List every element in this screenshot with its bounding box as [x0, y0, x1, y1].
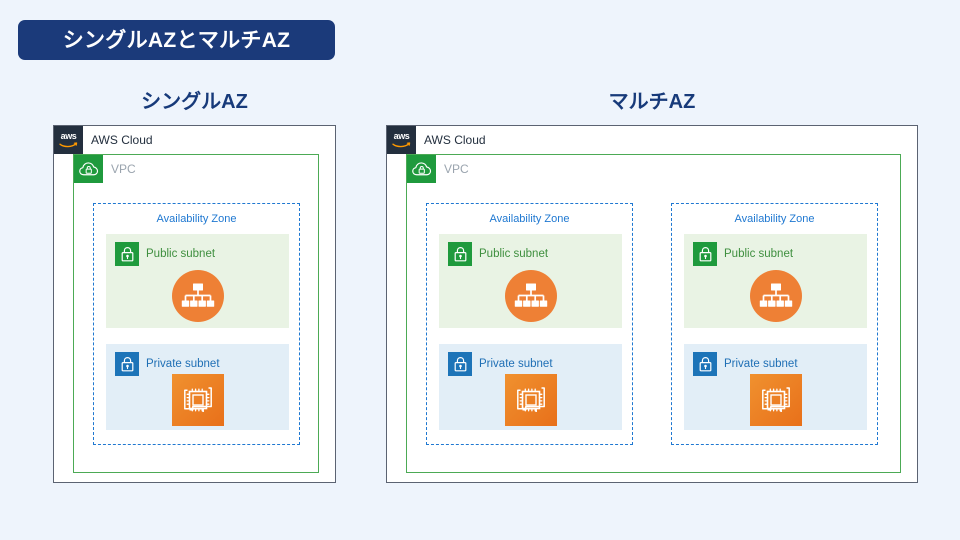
private-subnet-lock-icon [693, 352, 717, 376]
availability-zone-label: Availability Zone [427, 212, 632, 226]
ec2-instance-icon [750, 374, 802, 426]
public-subnet-block: Public subnet [106, 234, 289, 328]
aws-smile-swoosh-icon [392, 142, 411, 148]
aws-cloud-label: AWS Cloud [91, 132, 153, 148]
ec2-instance-icon [172, 374, 224, 426]
public-subnet-lock-icon [448, 242, 472, 266]
vpc-label: VPC [111, 161, 136, 177]
availability-zone-box: Availability Zone Public subnet [426, 203, 633, 445]
public-subnet-block: Public subnet [684, 234, 867, 328]
public-subnet-label: Public subnet [724, 246, 793, 262]
aws-cloud-container-multi-az: aws AWS Cloud VPC Availability Zone [386, 125, 918, 483]
public-subnet-label: Public subnet [479, 246, 548, 262]
elastic-load-balancer-icon [505, 270, 557, 322]
vpc-label: VPC [444, 161, 469, 177]
private-subnet-label: Private subnet [479, 356, 553, 372]
heading-multi-az: マルチAZ [386, 92, 918, 112]
vpc-cloud-lock-icon [407, 155, 436, 183]
page-title-badge: シングルAZとマルチAZ [18, 20, 335, 60]
aws-logo-icon: aws [387, 126, 416, 154]
heading-single-az: シングルAZ [53, 92, 336, 112]
private-subnet-block: Private subnet [439, 344, 622, 430]
ec2-instance-icon [505, 374, 557, 426]
aws-logo-icon: aws [54, 126, 83, 154]
vpc-container-single-az: VPC Availability Zone Public subnet [73, 154, 319, 473]
private-subnet-label: Private subnet [724, 356, 798, 372]
vpc-cloud-lock-icon [74, 155, 103, 183]
private-subnet-lock-icon [448, 352, 472, 376]
private-subnet-lock-icon [115, 352, 139, 376]
elastic-load-balancer-icon [750, 270, 802, 322]
public-subnet-lock-icon [115, 242, 139, 266]
aws-cloud-label: AWS Cloud [424, 132, 486, 148]
aws-logo-text: aws [394, 132, 410, 141]
availability-zone-box: Availability Zone Public subnet [671, 203, 878, 445]
aws-logo-text: aws [61, 132, 77, 141]
availability-zone-label: Availability Zone [672, 212, 877, 226]
public-subnet-lock-icon [693, 242, 717, 266]
page-title-text: シングルAZとマルチAZ [63, 30, 291, 51]
aws-cloud-container-single-az: aws AWS Cloud VPC Availability Zone [53, 125, 336, 483]
public-subnet-block: Public subnet [439, 234, 622, 328]
availability-zone-label: Availability Zone [94, 212, 299, 226]
elastic-load-balancer-icon [172, 270, 224, 322]
private-subnet-block: Private subnet [106, 344, 289, 430]
availability-zone-box: Availability Zone Public subnet [93, 203, 300, 445]
private-subnet-block: Private subnet [684, 344, 867, 430]
vpc-container-multi-az: VPC Availability Zone Public subnet [406, 154, 901, 473]
private-subnet-label: Private subnet [146, 356, 220, 372]
public-subnet-label: Public subnet [146, 246, 215, 262]
aws-smile-swoosh-icon [59, 142, 78, 148]
